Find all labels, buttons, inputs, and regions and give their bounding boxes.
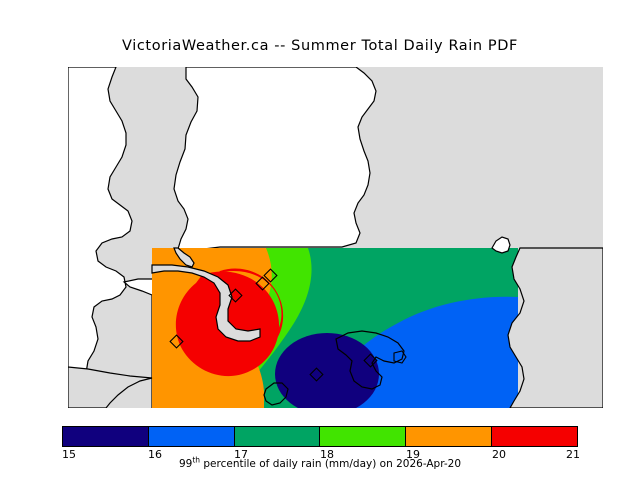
colorbar <box>62 426 578 447</box>
coastline-east <box>508 248 603 408</box>
colorbar-band-15-16 <box>63 427 148 446</box>
caption-suffix: percentile of daily rain (mm/day) on 202… <box>200 458 461 470</box>
colorbar-bands <box>62 426 578 447</box>
weather-map-page: VictoriaWeather.ca -- Summer Total Daily… <box>0 0 640 480</box>
colorbar-band-16-17 <box>148 427 234 446</box>
map-panel <box>68 67 603 408</box>
colorbar-band-18-19 <box>319 427 405 446</box>
page-title: VictoriaWeather.ca -- Summer Total Daily… <box>0 38 640 54</box>
caption-prefix: 99 <box>179 458 192 470</box>
colorbar-band-17-18 <box>234 427 320 446</box>
colorbar-band-20-21 <box>491 427 577 446</box>
map-canvas <box>68 67 603 408</box>
caption-superscript: th <box>192 456 200 465</box>
colorbar-band-19-20 <box>405 427 491 446</box>
water-body-central <box>174 67 376 251</box>
colorbar-caption: 99th percentile of daily rain (mm/day) o… <box>0 458 640 470</box>
